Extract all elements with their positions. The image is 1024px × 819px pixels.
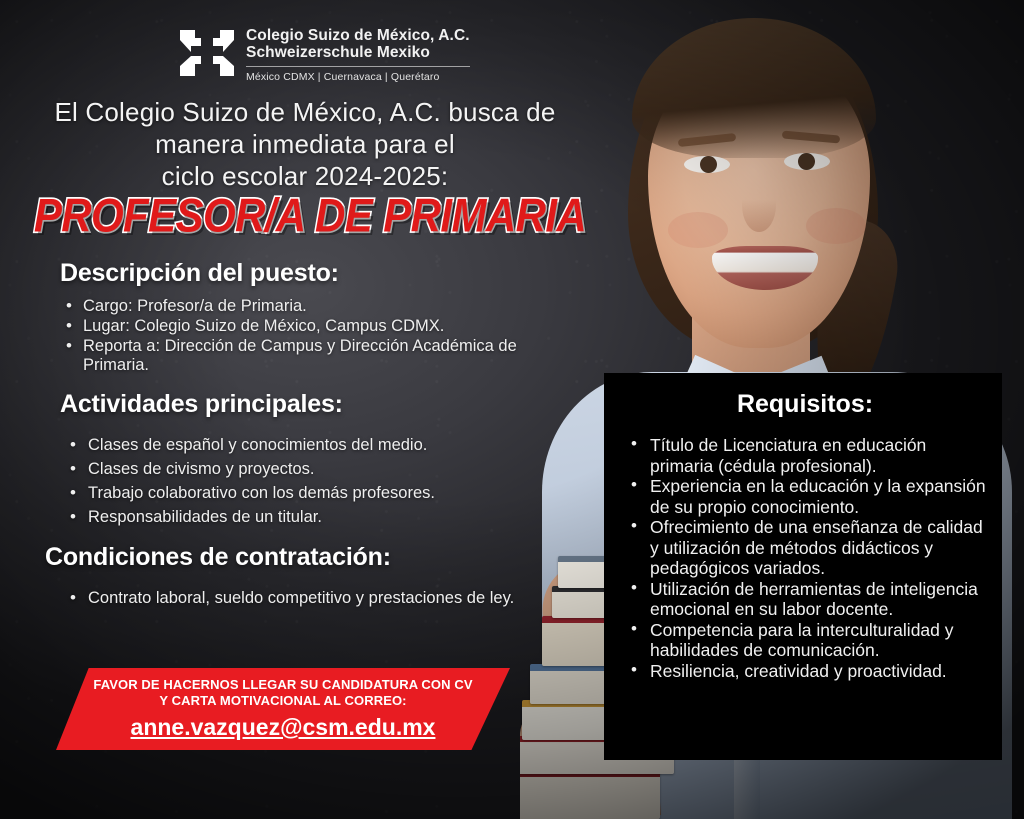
list-item: Experiencia en la educación y la expansi… [624,476,986,517]
cheek-right [806,208,866,244]
list-item: Responsabilidades de un titular. [60,508,560,527]
job-title: PROFESOR/A DE PRIMARIA [0,187,620,245]
nose [742,178,776,232]
headline: El Colegio Suizo de México, A.C. busca d… [0,96,610,192]
list-item: Cargo: Profesor/a de Primaria. [60,297,560,316]
headline-line-1: El Colegio Suizo de México, A.C. busca d… [0,96,610,128]
section-list: Cargo: Profesor/a de Primaria. Lugar: Co… [60,297,560,375]
section-list: Clases de español y conocimientos del me… [60,436,560,527]
logo-wordmark: Colegio Suizo de México, A.C. Schweizers… [246,26,470,83]
list-item: Lugar: Colegio Suizo de México, Campus C… [60,317,560,336]
section-heading: Descripción del puesto: [60,258,560,288]
section-heading: Condiciones de contratación: [45,542,545,572]
list-item: Ofrecimiento de una enseñanza de calidad… [624,517,986,579]
section-descripcion: Descripción del puesto: Cargo: Profesor/… [60,258,560,376]
four-converging-arrows-icon [178,26,236,80]
section-condiciones: Condiciones de contratación: Contrato la… [45,542,545,609]
contact-instruction-line-2: Y CARTA MOTIVACIONAL AL CORREO: [159,693,406,709]
list-item: Clases de español y conocimientos del me… [60,436,560,455]
cheek-left [668,212,728,248]
list-item: Título de Licenciatura en educación prim… [624,435,986,476]
requisitos-panel: Requisitos: Título de Licenciatura en ed… [604,373,1002,760]
list-item: Competencia para la interculturalidad y … [624,620,986,661]
requisitos-heading: Requisitos: [624,389,986,419]
logo-campus-list: México CDMX | Cuernavaca | Querétaro [246,71,470,83]
section-list: Contrato laboral, sueldo competitivo y p… [45,589,545,608]
list-item: Reporta a: Dirección de Campus y Direcci… [60,337,560,375]
list-item: Contrato laboral, sueldo competitivo y p… [45,589,545,608]
list-item: Clases de civismo y proyectos. [60,460,560,479]
book-stack-item [520,770,660,819]
list-item: Utilización de herramientas de inteligen… [624,579,986,620]
logo-line-2: Schweizerschule Mexiko [246,45,470,61]
school-logo: Colegio Suizo de México, A.C. Schweizers… [178,26,470,83]
section-actividades: Actividades principales: Clases de españ… [60,389,560,532]
logo-line-1: Colegio Suizo de México, A.C. [246,28,470,44]
requisitos-list: Título de Licenciatura en educación prim… [624,435,986,681]
section-heading: Actividades principales: [60,389,560,419]
contact-banner: FAVOR DE HACERNOS LLEGAR SU CANDIDATURA … [56,668,510,750]
headline-line-2: manera inmediata para el [0,128,610,160]
list-item: Resiliencia, creatividad y proactividad. [624,661,986,682]
iris-right [798,153,815,170]
list-item: Trabajo colaborativo con los demás profe… [60,484,560,503]
iris-left [700,156,717,173]
job-posting-poster: Colegio Suizo de México, A.C. Schweizers… [0,0,1024,819]
logo-divider [246,66,470,67]
contact-instruction-line-1: FAVOR DE HACERNOS LLEGAR SU CANDIDATURA … [93,677,472,693]
contact-email-link[interactable]: anne.vazquez@csm.edu.mx [131,713,436,741]
